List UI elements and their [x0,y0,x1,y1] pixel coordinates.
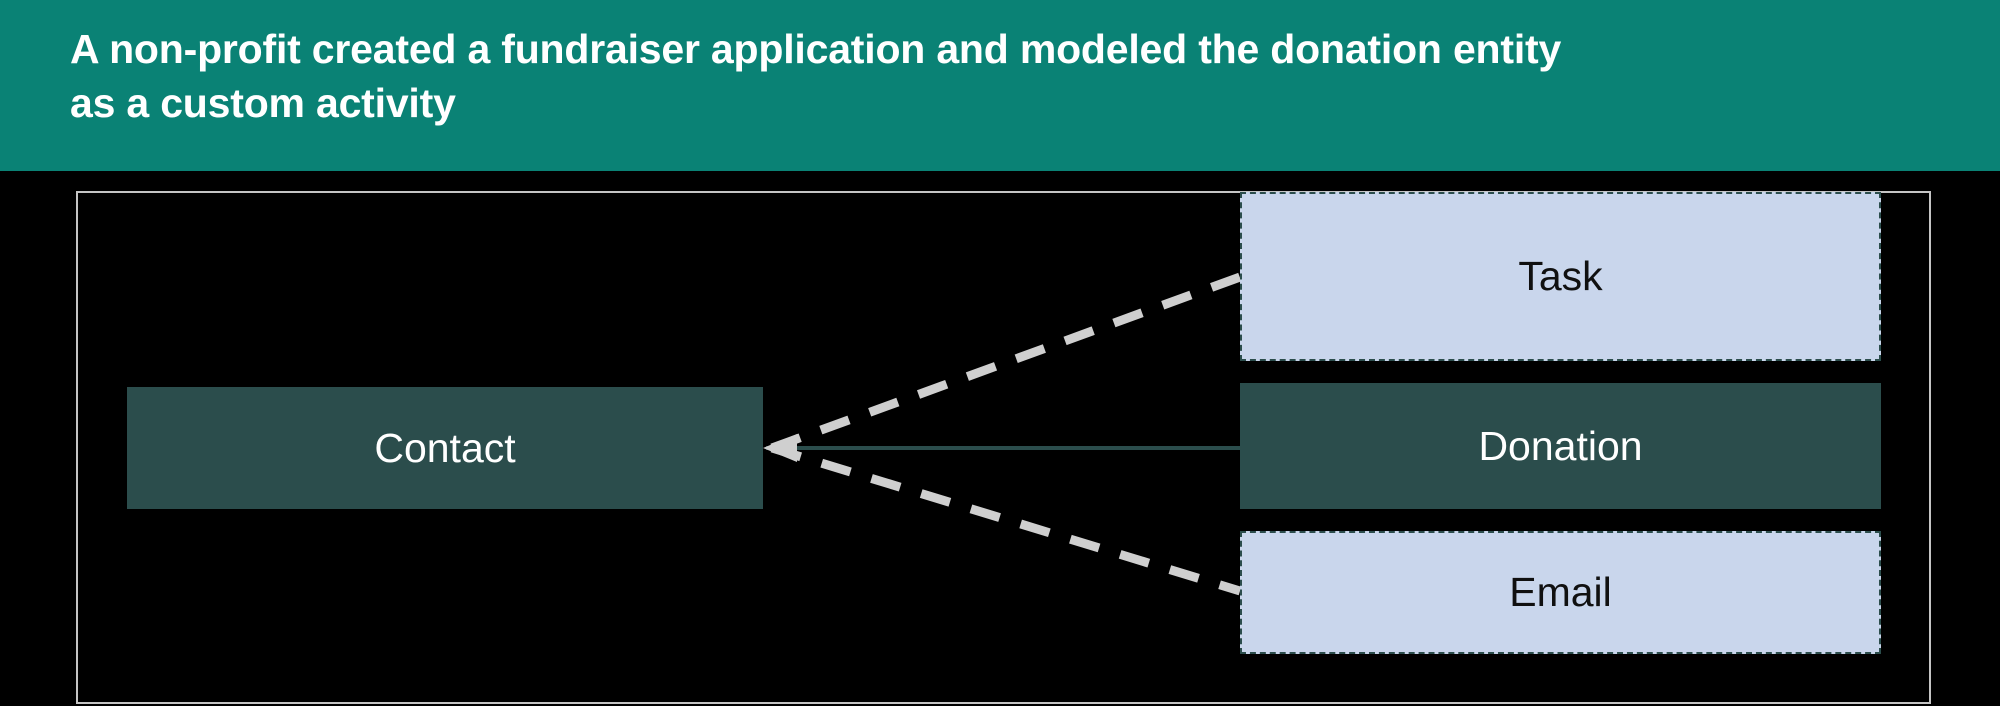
entity-label-contact: Contact [374,428,515,469]
entity-box-email[interactable]: Email [1240,531,1881,654]
entity-label-email: Email [1509,572,1612,613]
entity-box-task[interactable]: Task [1240,192,1881,361]
entity-label-task: Task [1518,256,1602,297]
page-title: A non-profit created a fundraiser applic… [70,22,1930,130]
entity-box-donation[interactable]: Donation [1240,383,1881,509]
slide-canvas: A non-profit created a fundraiser applic… [0,0,2000,706]
header-banner: A non-profit created a fundraiser applic… [0,0,2000,171]
entity-box-contact[interactable]: Contact [127,387,763,509]
diagram-stage: Contact Task Donation Email [0,171,2000,706]
entity-label-donation: Donation [1478,426,1642,467]
